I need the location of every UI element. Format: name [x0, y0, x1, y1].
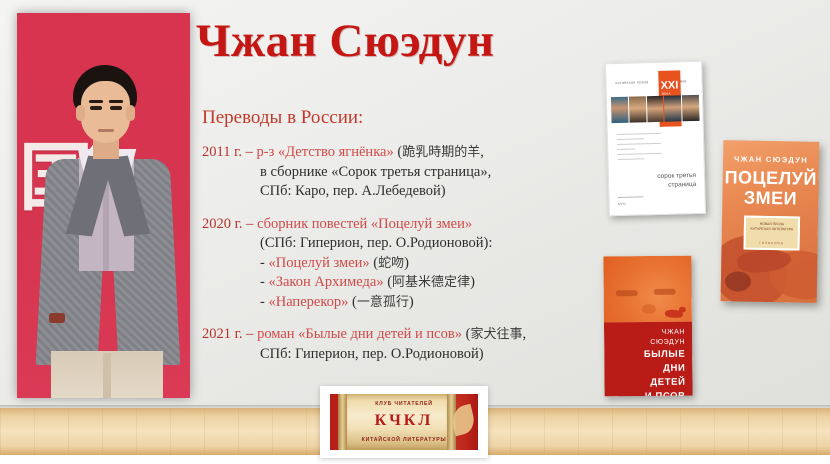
- book3-title-line1: БЫЛЫЕ: [644, 349, 686, 361]
- rule: [617, 143, 661, 145]
- book1-title-line2: страница: [657, 180, 696, 190]
- book3-title-line3: ДЕТЕЙ: [644, 377, 686, 389]
- text-segment: 一意孤行: [357, 295, 409, 310]
- club-banner: КЛУБ ЧИТАТЕЛЕЙ КЧКЛ КИТАЙСКОЙ ЛИТЕРАТУРЫ: [320, 386, 488, 458]
- book1-text-rules: [617, 133, 662, 164]
- dog-silhouette-icon: [665, 310, 683, 318]
- entry-line: 2020 г. – сборник повестей «Поцелуй змеи…: [202, 215, 602, 235]
- text-segment: 2011 г. –: [202, 144, 257, 160]
- book-cover-bylye-dni-detey-i-psov: ЧЖАН СЮЭДУН БЫЛЫЕ ДНИ ДЕТЕЙ И ПСОВ: [603, 256, 692, 397]
- portrait-thumb-2: [629, 96, 646, 122]
- cover3-eye-left: [616, 290, 638, 296]
- text-segment: СПб: Каро, пер. А.Лебедевой): [260, 183, 446, 199]
- text-segment: «Закон Архимеда»: [268, 274, 387, 290]
- page-title: Чжан Сюэдун: [196, 14, 616, 68]
- book2-publisher: ГИПЕРИОН: [750, 241, 794, 246]
- text-segment: ,: [522, 326, 526, 342]
- book2-title-line1: ПОЦЕЛУЙ: [723, 167, 819, 189]
- mouth: [98, 129, 114, 132]
- rule: [617, 149, 635, 150]
- entry-2011: 2011 г. – р-з «Детство ягнёнка» (跪乳時期的羊,…: [202, 143, 602, 202]
- text-segment: 2021 г. –: [202, 326, 257, 342]
- text-segment: 2020 г. –: [202, 216, 257, 232]
- book1-title: сорок третья страница: [657, 171, 696, 190]
- ear-left: [76, 105, 85, 121]
- entry-line: СПб: Каро, пер. А.Лебедевой): [202, 182, 602, 202]
- book2-series-plate: НОВАЯ ПРОЗА КИТАЙСКАЯ ЛИТЕРАТУРА ГИПЕРИО…: [744, 216, 801, 251]
- book2-title: ПОЦЕЛУЙ ЗМЕИ: [722, 167, 819, 209]
- text-segment: р-з «Детство ягнёнка»: [257, 144, 398, 160]
- rule: [617, 153, 661, 155]
- cover3-nose: [642, 304, 656, 314]
- book1-header-left: китайская проза: [615, 80, 648, 85]
- book3-author-line1: ЧЖАН: [644, 328, 686, 338]
- book2-title-line2: ЗМЕИ: [722, 187, 818, 209]
- wristwatch: [49, 313, 65, 323]
- author-portrait-photo: 国 会: [17, 13, 190, 398]
- text-segment: СПб: Гиперион, пер. О.Родионовой): [260, 346, 484, 362]
- book-cover-potseluy-zmei: ЧЖАН СЮЭДУН ПОЦЕЛУЙ ЗМЕИ НОВАЯ ПРОЗА КИТ…: [721, 140, 820, 303]
- book3-author-line2: СЮЭДУН: [644, 337, 686, 347]
- section-subheading: Переводы в России:: [202, 107, 363, 129]
- rule: [618, 158, 645, 160]
- book3-title-line4: И ПСОВ: [644, 391, 686, 397]
- entry-line: 2011 г. – р-з «Детство ягнёнка» (跪乳時期的羊,: [202, 143, 602, 163]
- book3-text: ЧЖАН СЮЭДУН БЫЛЫЕ ДНИ ДЕТЕЙ И ПСОВ: [644, 328, 686, 397]
- entry-2020: 2020 г. – сборник повестей «Поцелуй змеи…: [202, 215, 602, 313]
- eye-right: [110, 106, 122, 110]
- trouser-gap: [103, 353, 111, 398]
- face: [81, 81, 130, 143]
- entry-line: - «Наперекор» (一意孤行): [202, 293, 602, 313]
- book1-divider: [618, 196, 644, 198]
- text-segment: в сборнике «Сорок третья страница»,: [260, 164, 491, 180]
- entry-line: - «Закон Архимеда» (阿基米德定律): [202, 273, 602, 293]
- text-segment: 蛇吻: [378, 256, 404, 271]
- eye-left: [90, 106, 102, 110]
- portrait-thumb-1: [611, 97, 628, 123]
- book1-publisher: КАРО: [618, 202, 626, 206]
- text-segment: (СПб: Гиперион, пер. О.Родионовой):: [260, 235, 492, 251]
- book1-badge-text: XXI: [660, 79, 678, 91]
- book2-author: ЧЖАН СЮЭДУН: [723, 154, 819, 165]
- text-segment: «Поцелуй змеи»: [268, 255, 373, 271]
- text-segment: ): [404, 255, 409, 271]
- text-segment: роман «Былые дни детей и псов»: [257, 326, 466, 342]
- text-segment: 跪乳時期的羊: [402, 145, 480, 160]
- text-segment: ,: [480, 144, 484, 160]
- club-banner-acronym: КЧКЛ: [330, 412, 478, 430]
- book1-author-portrait-strip: [611, 95, 700, 123]
- club-banner-bottom-text: КИТАЙСКОЙ ЛИТЕРАТУРЫ: [330, 437, 478, 443]
- cover2-shape-4: [725, 271, 751, 291]
- eyebrow-right: [109, 100, 123, 103]
- text-segment: ): [409, 294, 414, 310]
- entry-line: в сборнике «Сорок третья страница»,: [202, 163, 602, 183]
- text-segment: «Наперекор»: [268, 294, 352, 310]
- text-segment: 阿基米德定律: [392, 275, 470, 290]
- translations-list: 2011 г. – р-з «Детство ягнёнка» (跪乳時期的羊,…: [202, 143, 602, 377]
- text-segment: 家犬往事: [470, 327, 522, 342]
- portrait-thumb-3: [646, 96, 663, 122]
- text-segment: сборник повестей «Поцелуй змеи»: [257, 216, 472, 232]
- club-banner-top-text: КЛУБ ЧИТАТЕЛЕЙ: [330, 401, 478, 407]
- eyebrow-left: [89, 100, 103, 103]
- entry-line: - «Поцелуй змеи» (蛇吻): [202, 254, 602, 274]
- entry-line: СПб: Гиперион, пер. О.Родионовой): [202, 345, 602, 365]
- book2-plate-text: НОВАЯ ПРОЗА КИТАЙСКАЯ ЛИТЕРАТУРА: [750, 222, 794, 233]
- entry-2021: 2021 г. – роман «Былые дни детей и псов»…: [202, 325, 602, 364]
- slide-canvas: 国 会 Чжан Сюэдун Переводы в России: 2011 …: [0, 0, 830, 464]
- ear-right: [126, 105, 135, 121]
- cover3-eye-right: [654, 289, 676, 295]
- rule: [617, 133, 661, 135]
- rule: [617, 138, 644, 140]
- entry-line: 2021 г. – роман «Былые дни детей и псов»…: [202, 325, 602, 345]
- portrait-thumb-5: [682, 95, 699, 121]
- text-segment: ): [470, 274, 475, 290]
- portrait-thumb-4: [664, 95, 681, 121]
- book-cover-sorok-tretya-stranitsa: китайская проза века XXI ВЕКА сорок трет…: [605, 61, 706, 216]
- club-banner-inner: КЛУБ ЧИТАТЕЛЕЙ КЧКЛ КИТАЙСКОЙ ЛИТЕРАТУРЫ: [330, 394, 478, 450]
- book3-title-line2: ДНИ: [644, 363, 686, 375]
- entry-line: (СПб: Гиперион, пер. О.Родионовой):: [202, 234, 602, 254]
